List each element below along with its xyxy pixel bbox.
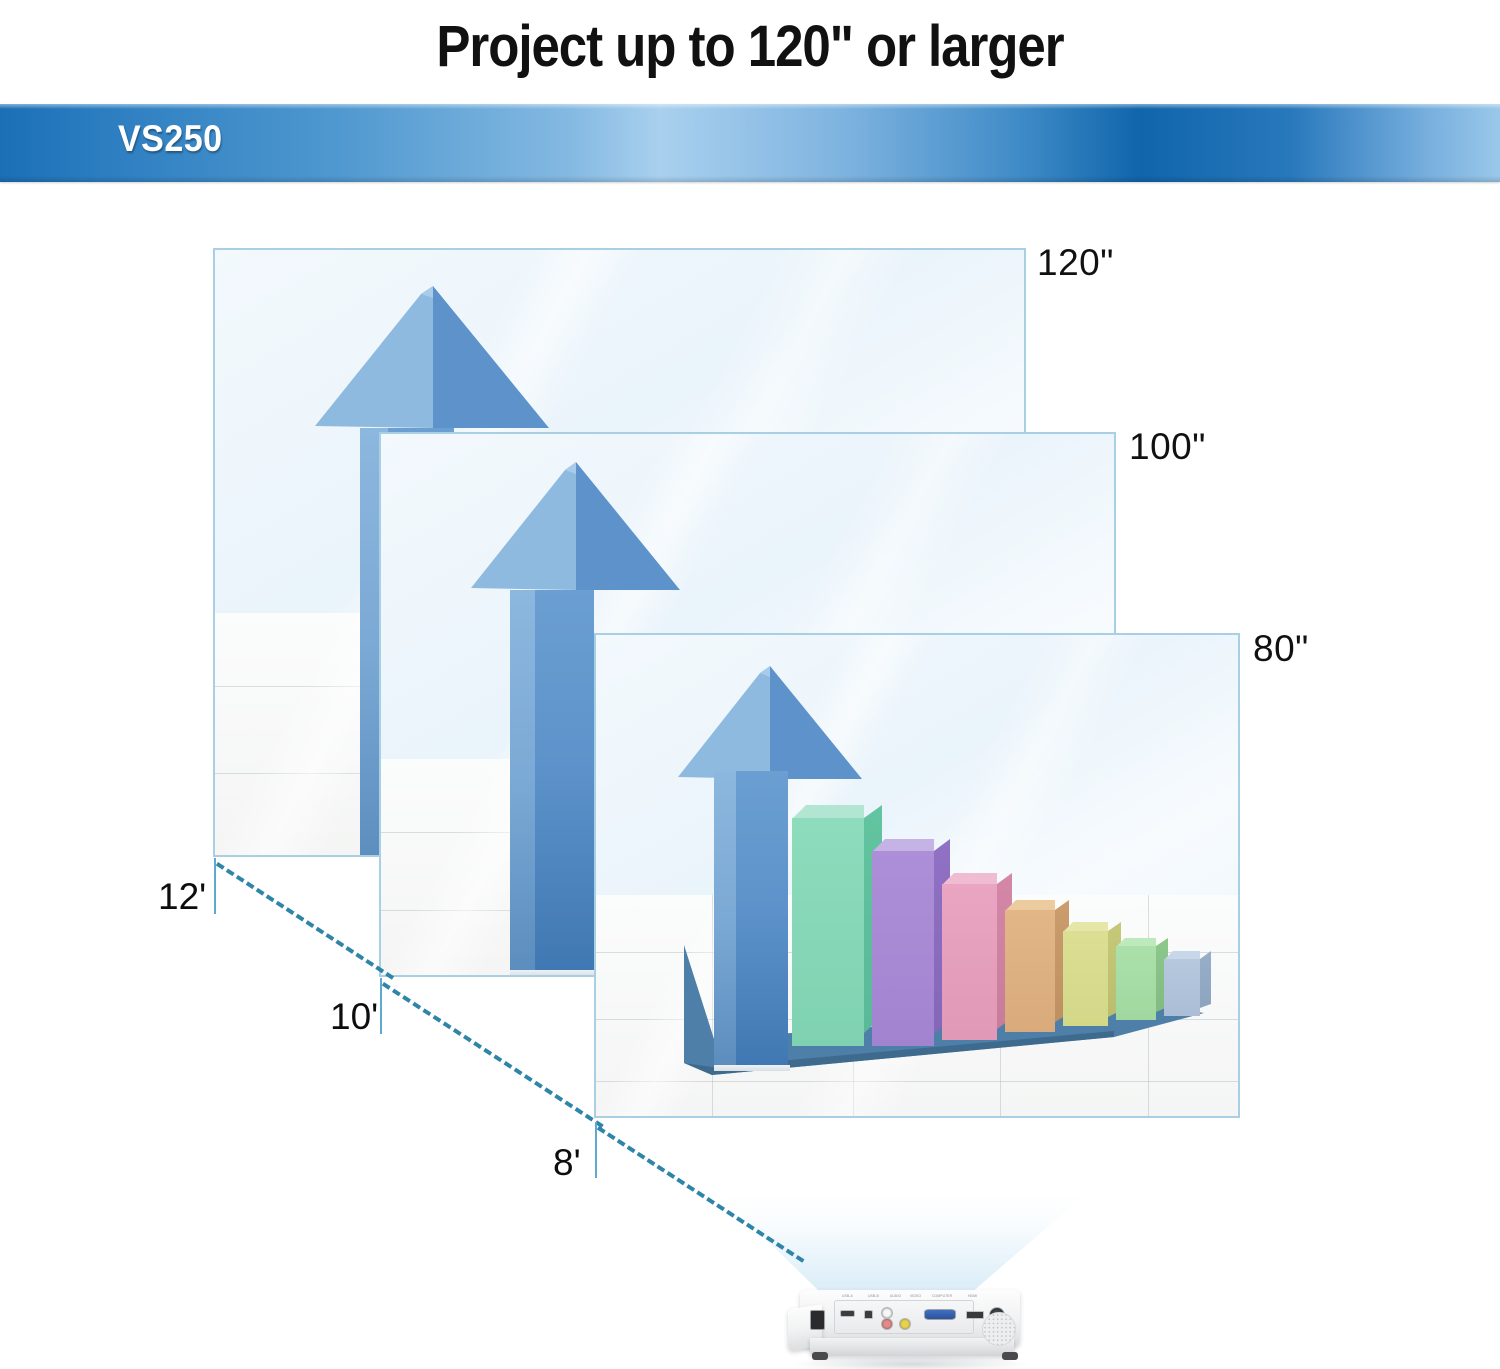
chart-bar-1 [792,818,864,1046]
port-label-audio: AUDIO [890,1294,901,1298]
projector-device: USB-A USB-B AUDIO VIDEO COMPUTER HDMI [786,1282,1032,1368]
infographic-canvas: Project up to 120" or larger VS250 120" [0,0,1500,1369]
projector-skirt [810,1338,1014,1356]
video-in-jack [899,1318,911,1330]
page-title: Project up to 120" or larger [90,0,1410,96]
hdmi-port [966,1311,984,1319]
distance-label-10ft: 10' [330,996,378,1038]
model-name: VS250 [118,118,223,160]
speaker-grille [982,1312,1016,1346]
port-label-usb-b: USB-B [868,1294,879,1298]
throw-line-segment-1 [216,862,394,980]
screen-80-inch [594,633,1240,1118]
size-label-100: 100" [1129,426,1206,468]
throw-line-segment-2 [382,982,604,1128]
port-label-video: VIDEO [910,1294,921,1298]
tick-8ft [595,1122,597,1178]
chart-bar-5 [1063,931,1108,1026]
tick-10ft [380,978,382,1034]
chart-bar-7 [1164,959,1200,1016]
brand-bar [0,104,1500,182]
projector-foot-left [812,1352,828,1360]
port-label-usb-a: USB-A [842,1294,853,1298]
vga-port [924,1309,956,1320]
tick-12ft [214,858,216,914]
power-inlet-port [810,1310,825,1330]
usb-b-port [864,1310,873,1319]
chart-bar-4 [1005,910,1055,1032]
chart-bar-3 [942,884,997,1040]
port-label-computer: COMPUTER [932,1294,952,1298]
chart-bar-2 [872,851,934,1046]
size-label-120: 120" [1037,242,1114,284]
distance-label-8ft: 8' [553,1142,581,1184]
size-label-80: 80" [1253,628,1309,670]
usb-a-port [840,1310,855,1317]
chart-bar-6 [1116,946,1156,1020]
port-label-hdmi: HDMI [968,1294,977,1298]
distance-label-12ft: 12' [158,876,206,918]
audio-right-jack [881,1318,893,1330]
projector-foot-right [1002,1352,1018,1360]
